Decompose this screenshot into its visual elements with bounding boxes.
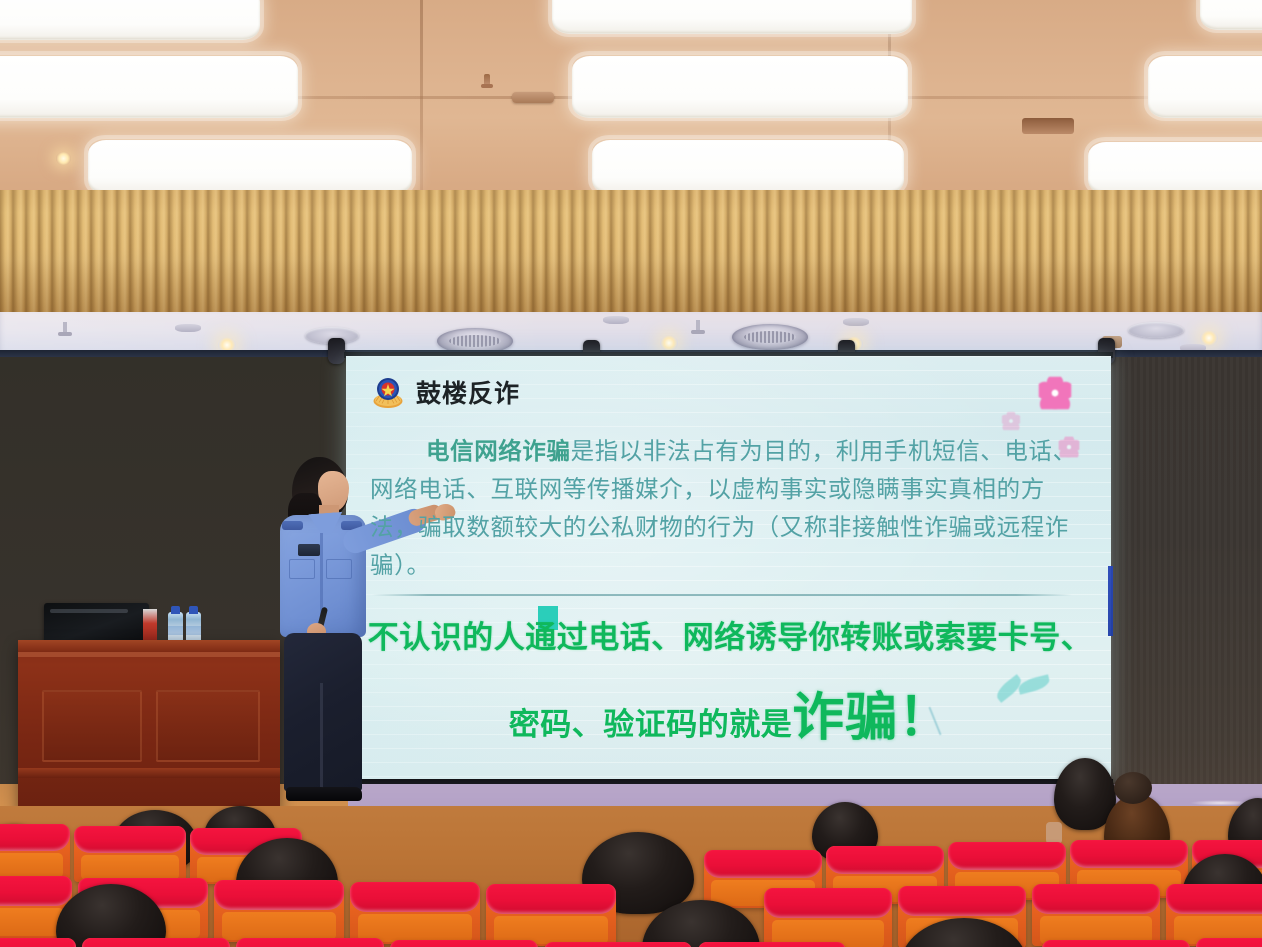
presentation-slide: 鼓楼反诈 电信网络诈骗是指以非法占有为目的，利用手机短信、电话、网络电话、互联网… bbox=[346, 356, 1111, 783]
speaker-grille-large bbox=[732, 324, 808, 350]
lectern-panel bbox=[156, 690, 260, 762]
audience-seat bbox=[236, 938, 384, 947]
audience-seat bbox=[0, 824, 70, 880]
presenter-trouser-seam bbox=[320, 683, 323, 789]
audience-seat bbox=[544, 942, 692, 947]
presenter-badge bbox=[298, 544, 320, 556]
lectern-top bbox=[18, 640, 280, 652]
audience-seat bbox=[1196, 938, 1262, 947]
audience-seat bbox=[214, 880, 344, 942]
audience-neck bbox=[1046, 822, 1062, 844]
slide-body-paragraph: 电信网络诈骗是指以非法占有为目的，利用手机短信、电话、网络电话、互联网等传播媒介… bbox=[370, 432, 1086, 584]
soffit-vent bbox=[603, 316, 629, 324]
auditorium-scene: 鼓楼反诈 电信网络诈骗是指以非法占有为目的，利用手机短信、电话、网络电话、互联网… bbox=[0, 0, 1262, 947]
slide-headline-line2: 密码、验证码的就是诈骗！ bbox=[362, 694, 1098, 744]
presenter-pocket bbox=[289, 559, 315, 579]
ceiling-light-panel bbox=[572, 56, 908, 118]
audience-seat bbox=[1166, 884, 1262, 946]
audience-seat bbox=[82, 938, 230, 947]
projection-screen: 鼓楼反诈 电信网络诈骗是指以非法占有为目的，利用手机短信、电话、网络电话、互联网… bbox=[346, 356, 1111, 783]
screen-bracket bbox=[328, 338, 345, 364]
wood-slat-wall bbox=[0, 190, 1262, 316]
audience-seat bbox=[390, 940, 538, 947]
audience-seat bbox=[74, 826, 186, 882]
ceiling-fitting bbox=[512, 92, 554, 103]
ceiling-light-panel bbox=[0, 56, 298, 118]
slide-title: 鼓楼反诈 bbox=[416, 374, 520, 410]
blossom-icon bbox=[1039, 377, 1072, 410]
slide-header: 鼓楼反诈 bbox=[372, 374, 520, 410]
lectern-base bbox=[18, 768, 280, 778]
ceiling-light-panel bbox=[1200, 0, 1262, 30]
audience-seating bbox=[0, 806, 1262, 947]
headline-emphasis: 诈骗！ bbox=[792, 694, 951, 743]
ceiling-light-panel bbox=[1148, 56, 1262, 118]
audience-seat bbox=[0, 938, 76, 947]
audience-seat bbox=[1032, 884, 1160, 946]
leaf-icon bbox=[1017, 674, 1051, 694]
slide-divider bbox=[372, 594, 1072, 596]
lectern-lip bbox=[18, 652, 280, 657]
soffit-downlight bbox=[660, 335, 678, 351]
slide-headline-line1: 不认识的人通过电话、网络诱导你转账或索要卡号、 bbox=[362, 618, 1098, 658]
sprinkler-head-icon bbox=[484, 74, 490, 88]
audience-seat bbox=[764, 888, 892, 947]
lectern-panel bbox=[42, 690, 142, 762]
ceiling-fitting bbox=[1022, 118, 1074, 134]
monitor-icon bbox=[44, 603, 149, 645]
soffit-sprinkler-icon bbox=[696, 320, 700, 332]
audience-seat bbox=[350, 882, 480, 944]
ceiling bbox=[0, 0, 1262, 196]
ceiling-light-panel bbox=[1088, 142, 1262, 194]
ceiling-downlight bbox=[56, 152, 71, 165]
soffit-vent bbox=[843, 318, 869, 326]
ceiling-light-panel bbox=[592, 140, 904, 194]
ceiling-light-panel bbox=[0, 0, 260, 40]
ceiling-light-panel bbox=[552, 0, 912, 34]
soffit-downlight bbox=[1200, 330, 1218, 346]
china-police-emblem-icon bbox=[372, 375, 404, 409]
audience-seat bbox=[1042, 940, 1190, 947]
soffit-sprinkler-icon bbox=[63, 322, 67, 334]
presenter-epaulet bbox=[282, 521, 303, 530]
blossom-icon bbox=[1002, 412, 1020, 430]
speaker-grille bbox=[1128, 322, 1184, 338]
slide-body-lead: 电信网络诈骗 bbox=[426, 437, 571, 465]
presenter-shoe bbox=[320, 787, 362, 801]
ceiling-light-panel bbox=[88, 140, 412, 194]
audience-seat bbox=[698, 942, 846, 947]
soffit-vent bbox=[175, 324, 201, 332]
audience-hair-bun bbox=[1114, 772, 1152, 804]
audience-seat bbox=[486, 884, 616, 946]
headline-prefix: 密码、验证码的就是 bbox=[509, 699, 793, 744]
